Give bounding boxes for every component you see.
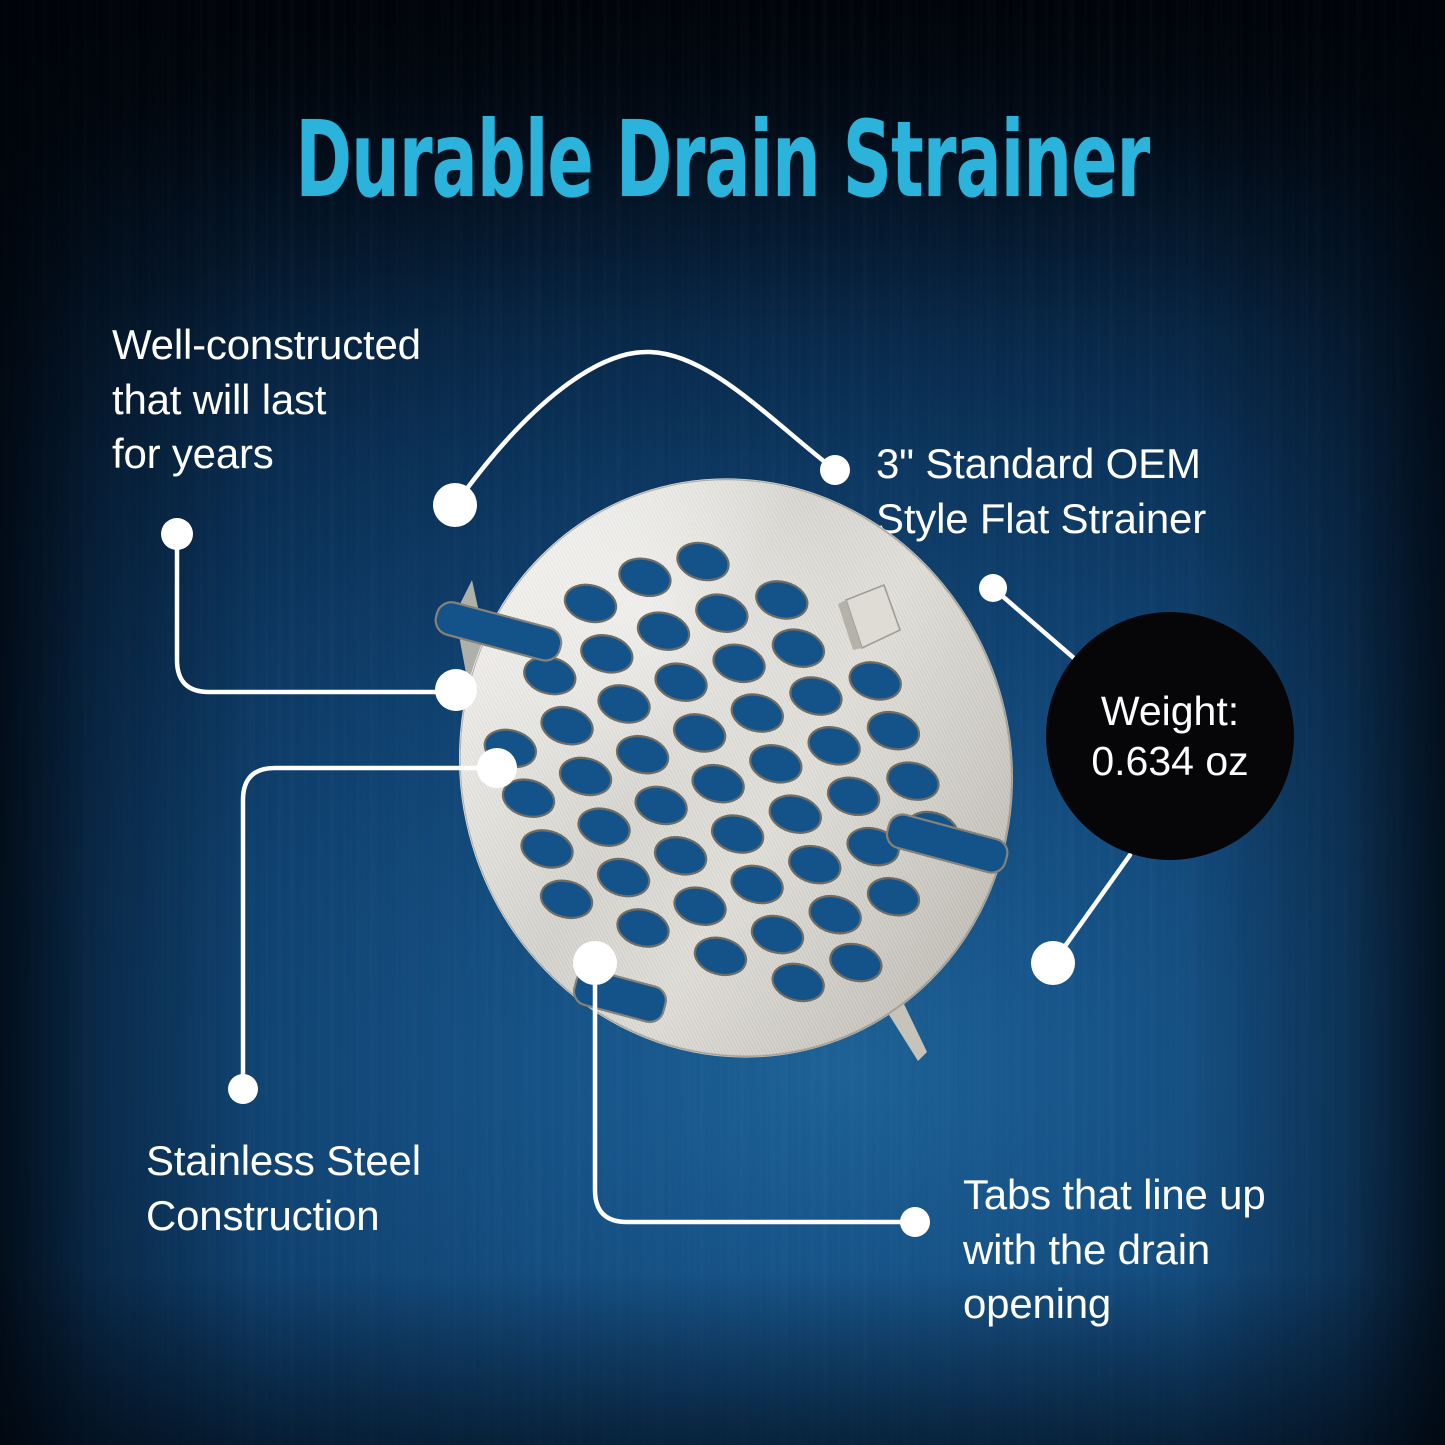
weight-badge-label: Weight: [1101,686,1239,736]
callout-dot-well-constructed-label[interactable] [161,518,193,550]
connector-stainless-steel [243,768,495,1089]
callout-dot-well-constructed-anchor[interactable] [433,483,477,527]
callout-dot-tabs-anchor[interactable] [573,941,617,985]
infographic-canvas: Durable Drain Strainer [0,0,1445,1445]
callout-dot-oem-strainer-anchor[interactable] [435,669,477,711]
weight-badge: Weight: 0.634 oz [1046,612,1294,860]
callout-dots [161,455,1075,1237]
connector-well-constructed [177,534,451,692]
callout-dot-stainless-steel-label[interactable] [228,1074,258,1104]
callout-dot-stainless-steel-anchor[interactable] [477,748,517,788]
connector-tabs [595,963,915,1222]
weight-badge-value: 0.634 oz [1091,736,1248,786]
callout-dot-weight-upper[interactable] [979,574,1007,602]
callout-dot-oem-strainer-label[interactable] [820,455,850,485]
callout-dot-tabs-label[interactable] [900,1207,930,1237]
callout-dot-weight-lower[interactable] [1031,941,1075,985]
connector-oem-strainer [455,352,835,505]
